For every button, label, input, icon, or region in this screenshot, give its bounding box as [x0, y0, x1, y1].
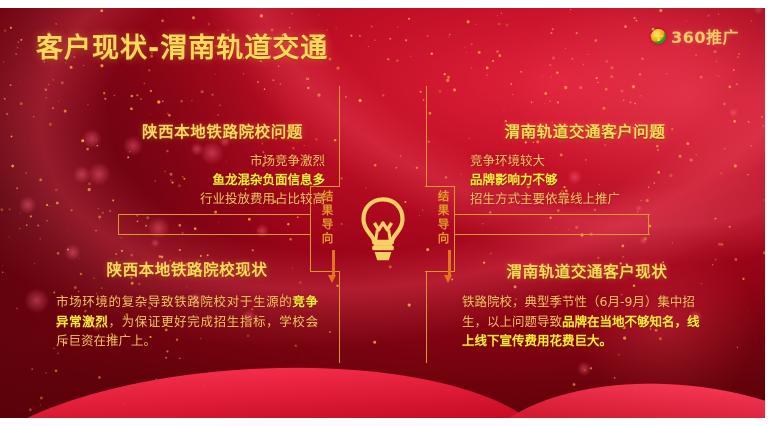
quadrant-heading: 陕西本地铁路院校问题 [118, 120, 327, 142]
quadrant-top-right: 渭南轨道交通客户问题 竞争环境较大 品牌影响力不够 招生方式主要依靠线上推广 [470, 120, 700, 208]
arrow-down-icon [332, 250, 335, 276]
brand-logo-label: 360推广 [671, 24, 739, 48]
quadrant-paragraph: 铁路院校，典型季节性（6月-9月）集中招生，以上问题导致品牌在当地不够知名，线上… [462, 292, 712, 351]
page-title: 客户现状-渭南轨道交通 [36, 26, 328, 65]
bullet-item: 招生方式主要依靠线上推广 [470, 189, 700, 208]
quadrant-top-left: 陕西本地铁路院校问题 市场竞争激烈 鱼龙混杂负面信息多 行业投放费用占比较高 [118, 120, 333, 208]
frame-line-top-right-stem [426, 86, 427, 186]
frame-line-bottom-left-stem [339, 271, 340, 363]
quadrant-bottom-left: 陕西本地铁路院校现状 市场环境的复杂导致铁路院校对于生源的竞争异常激烈，为保证更… [56, 258, 318, 351]
quadrant-heading: 渭南轨道交通客户现状 [462, 260, 712, 282]
quadrant-heading: 陕西本地铁路院校现状 [56, 258, 318, 280]
frame-line-right-arm-upper [454, 214, 650, 215]
quadrant-paragraph: 市场环境的复杂导致铁路院校对于生源的竞争异常激烈，为保证更好完成招生指标，学校会… [56, 292, 318, 351]
bullet-item-highlight: 品牌影响力不够 [470, 170, 700, 189]
bullet-item: 市场竞争激烈 [118, 151, 333, 170]
frame-line-bottom-right-stem [426, 271, 427, 363]
frame-line-left-cap [118, 214, 119, 235]
header: 客户现状-渭南轨道交通 360推广 [0, 8, 765, 66]
quadrant-heading: 渭南轨道交通客户问题 [470, 120, 700, 142]
frame-line-right-arm-lower [454, 234, 650, 235]
flow-label-right: 结果导向 [437, 190, 449, 246]
arrow-down-icon [448, 250, 451, 276]
bullet-item: 竞争环境较大 [470, 151, 700, 170]
bullet-item-highlight: 鱼龙混杂负面信息多 [118, 170, 333, 189]
brand-logo[interactable]: 360推广 [651, 24, 739, 48]
bullet-item: 行业投放费用占比较高 [118, 189, 333, 208]
bullet-list: 竞争环境较大 品牌影响力不够 招生方式主要依靠线上推广 [470, 151, 700, 208]
frame-line-left-arm-lower [118, 234, 311, 235]
frame-line-left-arm-upper [118, 214, 311, 215]
frame-line-top-left-stem [339, 86, 340, 186]
360-shield-icon [651, 29, 666, 44]
slide-canvas: 客户现状-渭南轨道交通 360推广 结果导向 结果导向 [0, 8, 765, 418]
frame-line-right-cap [648, 214, 649, 235]
bullet-list: 市场竞争激烈 鱼龙混杂负面信息多 行业投放费用占比较高 [118, 151, 333, 208]
flow-indicator-right: 结果导向 [437, 190, 461, 276]
quadrant-bottom-right: 渭南轨道交通客户现状 铁路院校，典型季节性（6月-9月）集中招生，以上问题导致品… [462, 260, 712, 351]
lightbulb-icon [355, 195, 411, 265]
paragraph-pre: 市场环境的复杂导致铁路院校对于生源的 [56, 294, 292, 309]
